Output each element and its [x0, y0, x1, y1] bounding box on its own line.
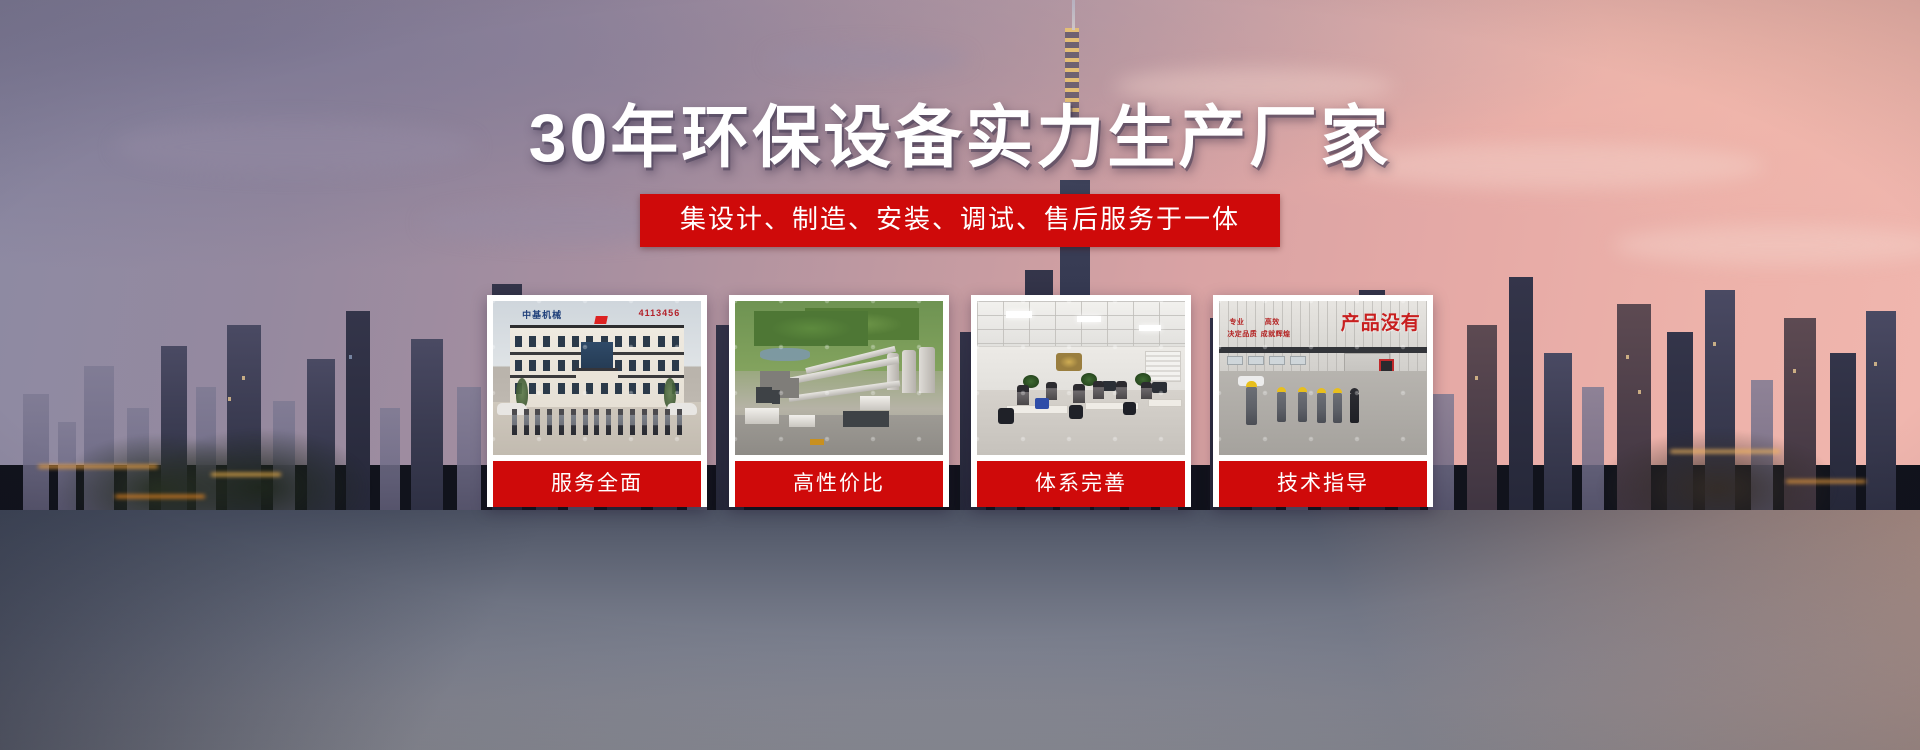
worker-figure: [1298, 387, 1307, 422]
feature-card[interactable]: 高性价比: [729, 295, 949, 507]
factory-banner-text: 产品没有: [1341, 308, 1421, 335]
aerial-production-plant-photo: [735, 301, 943, 455]
company-headquarters-building-photo: 中基机械 4113456: [493, 301, 701, 455]
building-sign-text: 中基机械: [522, 308, 562, 321]
feature-card-label: 高性价比: [735, 461, 943, 507]
factory-slogan-left: 专业: [1229, 319, 1244, 328]
feature-card-list: 中基机械 4113456 服务全面: [487, 295, 1433, 507]
banner-content: 30年环保设备实力生产厂家 集设计、制造、安装、调试、售后服务于一体: [0, 0, 1920, 750]
wall-decal: [1056, 353, 1082, 371]
subtitle-banner: 集设计、制造、安装、调试、售后服务于一体: [640, 194, 1280, 247]
flag-icon: [594, 316, 608, 324]
feature-card[interactable]: 中基机械 4113456 服务全面: [487, 295, 707, 507]
feature-card[interactable]: 产品没有 专业 决定品质 高效 成就辉煌: [1213, 295, 1433, 507]
feature-card[interactable]: 体系完善: [971, 295, 1191, 507]
building-phone-text: 4113456: [639, 308, 681, 318]
hero-banner: 30年环保设备实力生产厂家 集设计、制造、安装、调试、售后服务于一体: [0, 0, 1920, 750]
factory-slogan-right: 高效: [1265, 319, 1280, 328]
factory-workers-training-photo: 产品没有 专业 决定品质 高效 成就辉煌: [1219, 301, 1427, 455]
feature-card-label: 服务全面: [493, 461, 701, 507]
page-title: 30年环保设备实力生产厂家: [529, 104, 1392, 172]
worker-figure: [1317, 388, 1326, 423]
worker-figure: [1333, 388, 1342, 423]
worker-figure: [1246, 381, 1255, 425]
factory-slogan-right-sub: 成就辉煌: [1261, 331, 1291, 340]
staff-row: [512, 409, 683, 435]
feature-card-label: 技术指导: [1219, 461, 1427, 507]
factory-slogan-left-sub: 决定品质: [1227, 331, 1257, 340]
office-interior-staff-photo: [977, 301, 1185, 455]
worker-figure: [1350, 388, 1359, 423]
worker-figure: [1277, 387, 1286, 422]
feature-card-label: 体系完善: [977, 461, 1185, 507]
